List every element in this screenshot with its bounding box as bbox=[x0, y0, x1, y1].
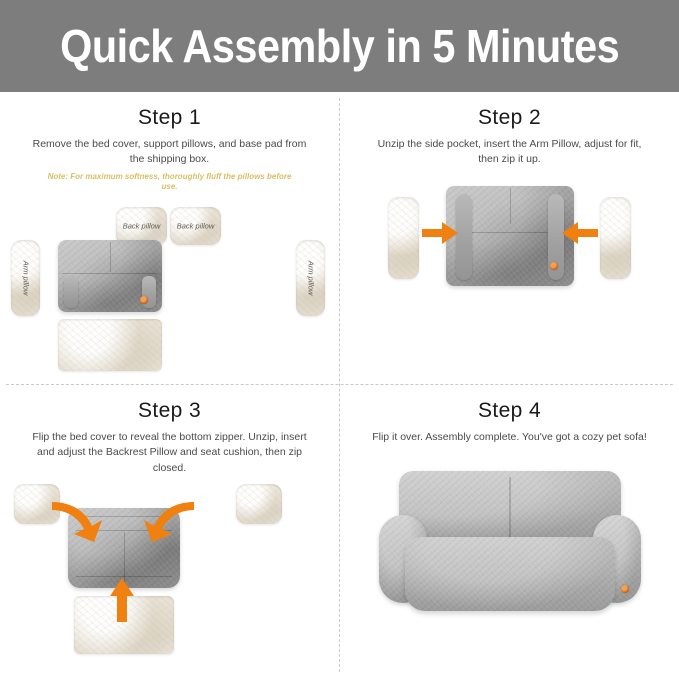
arm-pillow-right-label: Arm pillow bbox=[306, 261, 315, 296]
arm-pillow-left bbox=[388, 197, 419, 279]
step-panel-2: Step 2 Unzip the side pocket, insert the… bbox=[340, 92, 679, 385]
brand-tag-icon bbox=[621, 585, 629, 593]
step-3-description: Flip the bed cover to reveal the bottom … bbox=[30, 430, 310, 476]
back-pillow-right: Back pillow bbox=[170, 207, 221, 245]
step-4-title: Step 4 bbox=[340, 399, 679, 422]
brand-tag-icon bbox=[550, 262, 558, 270]
step-2-description: Unzip the side pocket, insert the Arm Pi… bbox=[370, 137, 650, 167]
step-3-illustration bbox=[0, 480, 339, 678]
arrow-left-icon bbox=[562, 222, 598, 244]
step-1-illustration: Back pillow Back pillow Arm pillow Arm p… bbox=[0, 197, 339, 385]
arm-pillow-right: Arm pillow bbox=[296, 240, 325, 316]
steps-grid: Step 1 Remove the bed cover, support pil… bbox=[0, 92, 679, 678]
arm-pillow-left: Arm pillow bbox=[11, 240, 40, 316]
page-title: Quick Assembly in 5 Minutes bbox=[60, 23, 619, 69]
base-pad bbox=[58, 319, 162, 371]
sofa-seat bbox=[405, 537, 615, 611]
sofa-backrest bbox=[399, 471, 621, 543]
arrow-right-icon bbox=[422, 222, 458, 244]
step-2-illustration bbox=[340, 172, 679, 372]
step-2-title: Step 2 bbox=[340, 106, 679, 129]
backrest-pillow-right bbox=[236, 484, 282, 524]
step-4-description: Flip it over. Assembly complete. You've … bbox=[370, 430, 650, 445]
arrow-curved-right-icon bbox=[140, 500, 196, 544]
step-1-title: Step 1 bbox=[0, 106, 339, 129]
step-3-title: Step 3 bbox=[0, 399, 339, 422]
assembly-infographic: Quick Assembly in 5 Minutes Step 1 Remov… bbox=[0, 0, 679, 678]
bed-cover-folded bbox=[58, 240, 162, 312]
arm-pillow-left-label: Arm pillow bbox=[21, 261, 30, 296]
step-panel-4: Step 4 Flip it over. Assembly complete. … bbox=[340, 385, 679, 678]
arrow-curved-left-icon bbox=[50, 500, 106, 544]
step-panel-3: Step 3 Flip the bed cover to reveal the … bbox=[0, 385, 339, 678]
step-panel-1: Step 1 Remove the bed cover, support pil… bbox=[0, 92, 339, 385]
step-1-note: Note: For maximum softness, thoroughly f… bbox=[45, 172, 295, 194]
arm-pillow-right bbox=[600, 197, 631, 279]
back-pillow-left-label: Back pillow bbox=[116, 222, 167, 231]
header-banner: Quick Assembly in 5 Minutes bbox=[0, 0, 679, 92]
step-4-illustration bbox=[340, 449, 679, 649]
step-1-description: Remove the bed cover, support pillows, a… bbox=[30, 137, 310, 167]
arrow-up-icon bbox=[110, 578, 134, 622]
assembled-pet-sofa bbox=[379, 471, 641, 621]
bed-cover-upright bbox=[446, 186, 574, 286]
back-pillow-right-label: Back pillow bbox=[170, 222, 221, 231]
